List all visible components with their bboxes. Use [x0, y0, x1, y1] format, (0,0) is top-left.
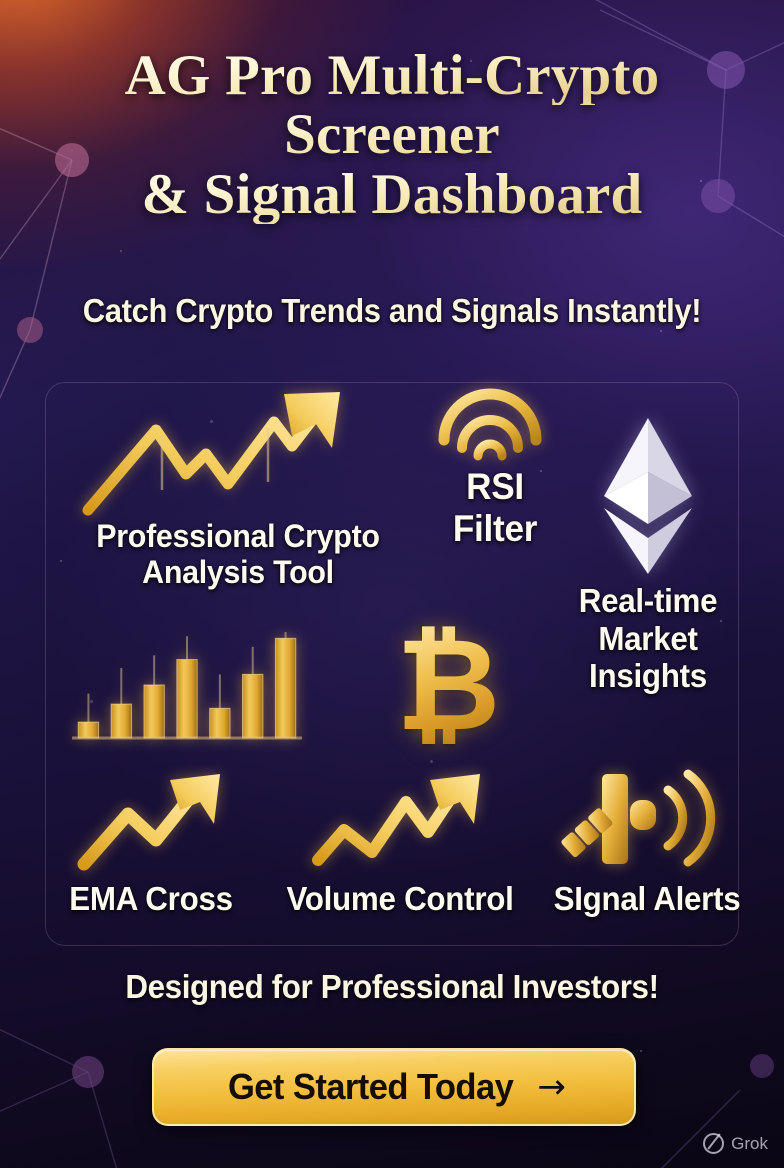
bitcoin-icon: ₿ — [396, 622, 500, 750]
volume-control-trend-arrow-icon — [310, 768, 488, 874]
page-title: AG Pro Multi-Crypto Screener & Signal Da… — [0, 46, 784, 224]
feature-label-professional-crypto-analysis: Professional Crypto Analysis Tool — [71, 518, 405, 591]
feature-label-signal-alerts: SIgnal Alerts — [542, 880, 753, 918]
promo-poster: AG Pro Multi-Crypto Screener & Signal Da… — [0, 0, 784, 1168]
ethereum-icon — [592, 412, 704, 580]
broadcast-alert-icon — [540, 762, 720, 874]
trend-arrow-icon — [78, 388, 358, 518]
title-line-2: Screener — [0, 105, 784, 164]
grok-watermark-label: Grok — [731, 1134, 768, 1154]
ema-cross-trend-arrow-icon — [74, 768, 228, 874]
feature-label-volume-control: Volume Control — [277, 880, 524, 918]
get-started-button[interactable]: Get Started Today → — [152, 1048, 636, 1126]
feature-label-rsi-filter: RSI Filter — [424, 466, 567, 550]
bar-chart-icon — [72, 622, 302, 746]
title-line-1: AG Pro Multi-Crypto — [0, 46, 784, 105]
grok-watermark: Grok — [703, 1133, 768, 1154]
feature-label-ema-cross: EMA Cross — [46, 880, 257, 918]
title-line-3: & Signal Dashboard — [0, 165, 784, 224]
feature-label-real-time-market-insights: Real-time Market Insights — [553, 582, 743, 695]
cta-label: Get Started Today — [228, 1066, 513, 1108]
wifi-signal-icon — [436, 384, 544, 464]
subtitle: Catch Crypto Trends and Signals Instantl… — [24, 292, 761, 330]
tagline: Designed for Professional Investors! — [20, 968, 765, 1006]
arrow-right-icon: → — [537, 1070, 566, 1104]
grok-logo-icon — [703, 1133, 724, 1154]
